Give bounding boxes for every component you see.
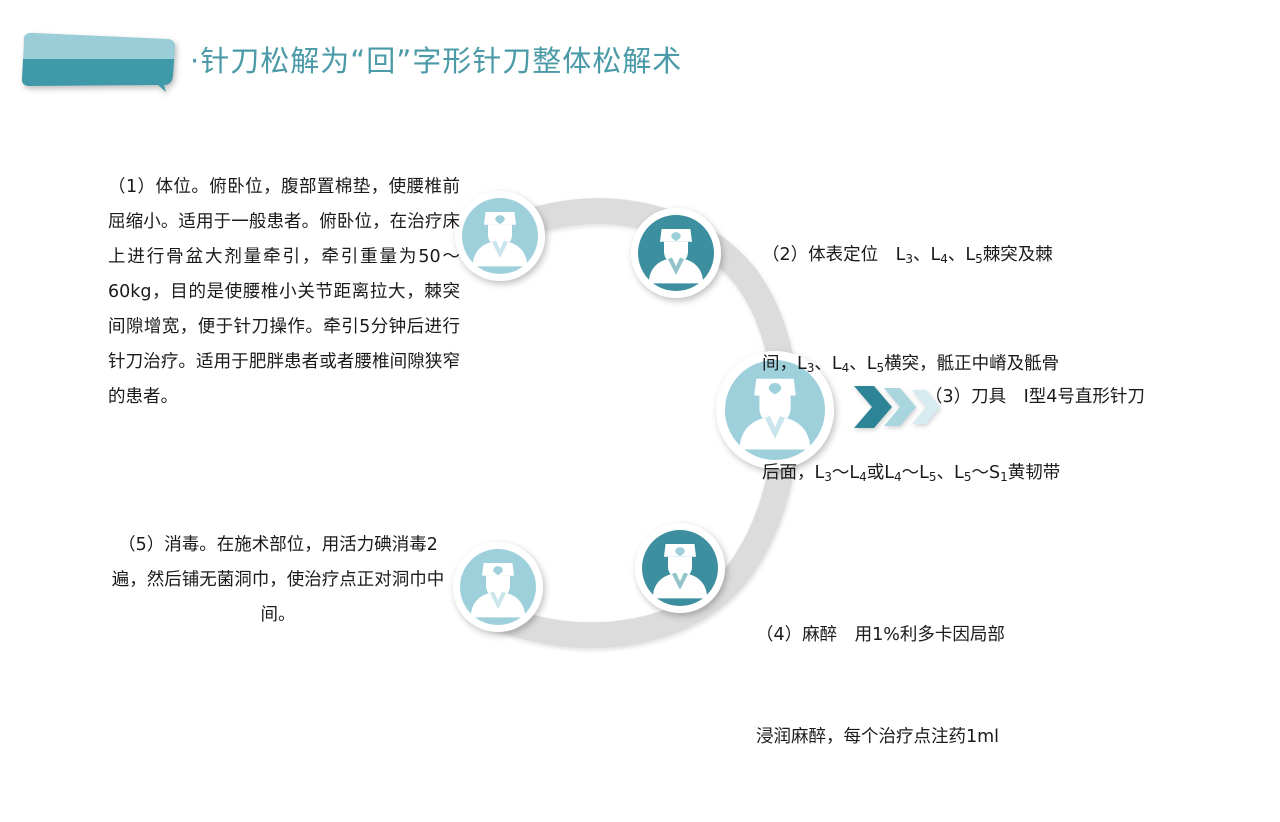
title-banner — [18, 30, 178, 90]
step-4-line-2: 浸润麻醉，每个治疗点注药1ml — [756, 720, 1156, 754]
page-title: ·针刀松解为“回”字形针刀整体松解术 — [190, 44, 682, 78]
step-2-line-2: 间，L3、L4、L5横突，骶正中嵴及骶骨 — [762, 347, 1142, 386]
node-top-left[interactable] — [455, 191, 545, 281]
node-bottom-right[interactable] — [635, 523, 725, 613]
step-3-text: （3）刀具 Ⅰ型4号直形针刀 — [925, 382, 1265, 412]
step-4-line-1: （4）麻醉 用1%利多卡因局部 — [756, 618, 1156, 652]
step-1-text: （1）体位。俯卧位，腹部置棉垫，使腰椎前屈缩小。适用于一般患者。俯卧位，在治疗床… — [108, 170, 460, 415]
banner-top-half — [18, 30, 178, 59]
node-top-right[interactable] — [631, 208, 721, 298]
banner-bottom-half — [18, 59, 178, 92]
step-4-text: （4）麻醉 用1%利多卡因局部 浸润麻醉，每个治疗点注药1ml — [756, 550, 1156, 822]
step-2-text: （2）体表定位 L3、L4、L5棘突及棘 间，L3、L4、L5横突，骶正中嵴及骶… — [762, 168, 1142, 565]
step-2-line-1: （2）体表定位 L3、L4、L5棘突及棘 — [762, 238, 1142, 277]
step-2-line-3: 后面，L3～L4或L4～L5、L5～S1黄韧带 — [762, 456, 1142, 495]
node-bottom-left[interactable] — [453, 542, 543, 632]
step-5-text: （5）消毒。在施术部位，用活力碘消毒2遍，然后铺无菌洞巾，使治疗点正对洞巾中间。 — [108, 528, 448, 633]
slide-canvas: ·针刀松解为“回”字形针刀整体松解术 — [0, 0, 1280, 720]
